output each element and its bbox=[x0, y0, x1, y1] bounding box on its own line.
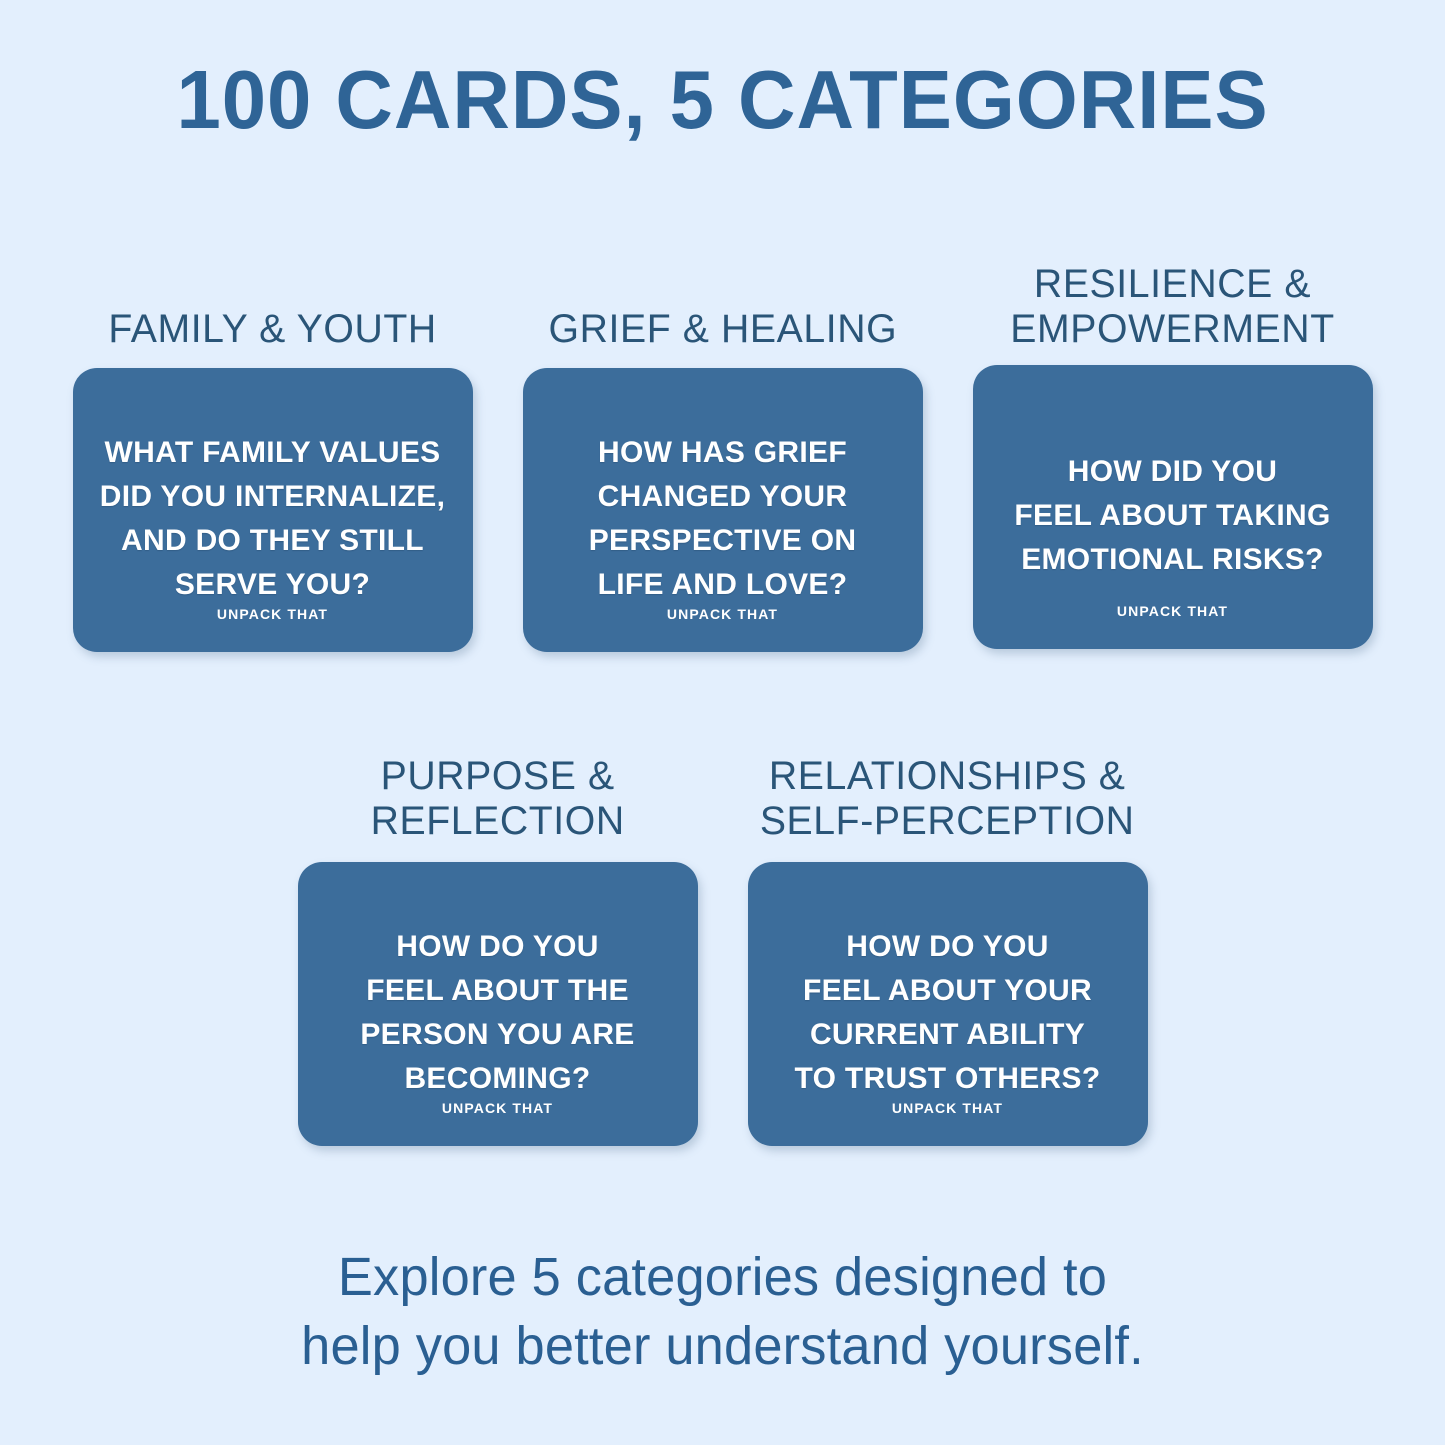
card-question-line: TO TRUST OTHERS? bbox=[795, 1062, 1101, 1095]
card-question-line: HOW DO YOU bbox=[396, 930, 598, 963]
card-brand-label: UNPACK THAT bbox=[73, 606, 473, 622]
category-title-line: REFLECTION bbox=[370, 799, 624, 844]
card-question-line: CHANGED YOUR bbox=[598, 480, 848, 513]
prompt-card[interactable]: WHAT FAMILY VALUES DID YOU INTERNALIZE, … bbox=[73, 368, 473, 652]
prompt-card[interactable]: HOW HAS GRIEF CHANGED YOUR PERSPECTIVE O… bbox=[523, 368, 923, 652]
category-title-grief-and-healing: GRIEF & HEALING bbox=[548, 248, 897, 352]
promo-page: 100 CARDS, 5 CATEGORIES FAMILY & YOUTH W… bbox=[0, 0, 1445, 1445]
card-question-line: FEEL ABOUT YOUR bbox=[803, 974, 1092, 1007]
category-title-line: RESILIENCE & bbox=[1010, 262, 1334, 307]
card-question-line: HOW HAS GRIEF bbox=[598, 436, 847, 469]
card-question: HOW DO YOU FEEL ABOUT THE PERSON YOU ARE… bbox=[360, 925, 634, 1100]
category-resilience-and-empowerment: RESILIENCE & EMPOWERMENT HOW DID YOU FEE… bbox=[948, 248, 1398, 652]
card-question-line: HOW DID YOU bbox=[1068, 455, 1277, 488]
category-row-top: FAMILY & YOUTH WHAT FAMILY VALUES DID YO… bbox=[0, 248, 1445, 652]
category-grief-and-healing: GRIEF & HEALING HOW HAS GRIEF CHANGED YO… bbox=[498, 248, 948, 652]
card-question: WHAT FAMILY VALUES DID YOU INTERNALIZE, … bbox=[100, 431, 445, 606]
card-question-line: DID YOU INTERNALIZE, bbox=[100, 480, 445, 513]
card-brand-label: UNPACK THAT bbox=[298, 1100, 698, 1116]
card-question: HOW DID YOU FEEL ABOUT TAKING EMOTIONAL … bbox=[1014, 450, 1330, 581]
category-title-line: SELF-PERCEPTION bbox=[760, 799, 1135, 844]
category-title-resilience-and-empowerment: RESILIENCE & EMPOWERMENT bbox=[1010, 248, 1334, 352]
card-question-line: BECOMING? bbox=[404, 1062, 590, 1095]
card-question-line: AND DO THEY STILL bbox=[121, 524, 424, 557]
category-title-line: RELATIONSHIPS & bbox=[760, 754, 1135, 799]
card-question-line: FEEL ABOUT TAKING bbox=[1014, 499, 1330, 532]
page-title: 100 CARDS, 5 CATEGORIES bbox=[29, 56, 1416, 143]
card-brand-label: UNPACK THAT bbox=[973, 603, 1373, 619]
card-question-line: EMOTIONAL RISKS? bbox=[1021, 543, 1324, 576]
card-question-line: FEEL ABOUT THE bbox=[366, 974, 629, 1007]
prompt-card[interactable]: HOW DO YOU FEEL ABOUT YOUR CURRENT ABILI… bbox=[748, 862, 1148, 1146]
prompt-card[interactable]: HOW DO YOU FEEL ABOUT THE PERSON YOU ARE… bbox=[298, 862, 698, 1146]
category-title-line: PURPOSE & bbox=[370, 754, 624, 799]
footer-caption: Explore 5 categories designed to help yo… bbox=[22, 1243, 1424, 1381]
card-question-line: PERSPECTIVE ON bbox=[589, 524, 857, 557]
card-question-line: CURRENT ABILITY bbox=[810, 1018, 1085, 1051]
card-question-line: PERSON YOU ARE bbox=[360, 1018, 634, 1051]
footer-caption-line: Explore 5 categories designed to bbox=[22, 1243, 1424, 1312]
category-relationships-and-self-perception: RELATIONSHIPS & SELF-PERCEPTION HOW DO Y… bbox=[723, 740, 1173, 1146]
footer-caption-line: help you better understand yourself. bbox=[22, 1312, 1424, 1381]
card-question-line: LIFE AND LOVE? bbox=[598, 568, 848, 601]
category-title-line: GRIEF & HEALING bbox=[548, 307, 897, 352]
card-question: HOW HAS GRIEF CHANGED YOUR PERSPECTIVE O… bbox=[589, 431, 857, 606]
category-title-line: FAMILY & YOUTH bbox=[108, 307, 436, 352]
category-title-line: EMPOWERMENT bbox=[1010, 307, 1334, 352]
category-family-and-youth: FAMILY & YOUTH WHAT FAMILY VALUES DID YO… bbox=[48, 248, 498, 652]
card-question: HOW DO YOU FEEL ABOUT YOUR CURRENT ABILI… bbox=[795, 925, 1101, 1100]
category-title-relationships-and-self-perception: RELATIONSHIPS & SELF-PERCEPTION bbox=[760, 740, 1135, 844]
card-brand-label: UNPACK THAT bbox=[523, 606, 923, 622]
category-row-bottom: PURPOSE & REFLECTION HOW DO YOU FEEL ABO… bbox=[0, 740, 1445, 1146]
category-title-family-and-youth: FAMILY & YOUTH bbox=[108, 248, 436, 352]
card-question-line: SERVE YOU? bbox=[175, 568, 370, 601]
category-title-purpose-and-reflection: PURPOSE & REFLECTION bbox=[370, 740, 624, 844]
prompt-card[interactable]: HOW DID YOU FEEL ABOUT TAKING EMOTIONAL … bbox=[973, 365, 1373, 649]
card-question-line: WHAT FAMILY VALUES bbox=[105, 436, 441, 469]
category-purpose-and-reflection: PURPOSE & REFLECTION HOW DO YOU FEEL ABO… bbox=[273, 740, 723, 1146]
card-question-line: HOW DO YOU bbox=[846, 930, 1048, 963]
card-brand-label: UNPACK THAT bbox=[748, 1100, 1148, 1116]
